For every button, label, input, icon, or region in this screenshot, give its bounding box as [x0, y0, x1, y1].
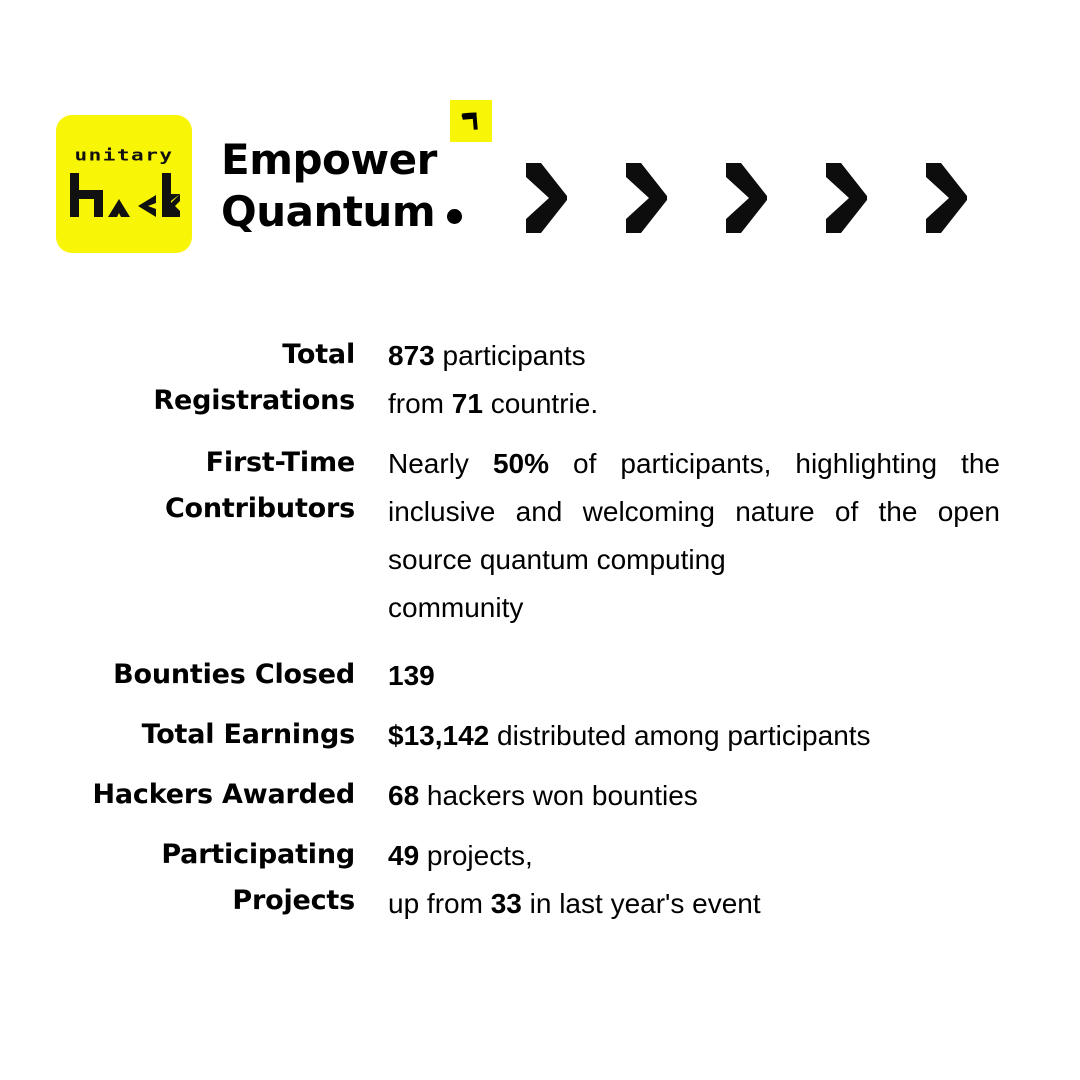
stat-number: 49	[388, 840, 419, 871]
stat-label: First-Time Contributors	[0, 440, 355, 532]
stat-label: Hackers Awarded	[0, 772, 355, 818]
logo-hack-wordmark	[68, 173, 180, 219]
stat-text: from	[388, 388, 452, 419]
stat-text: projects,	[419, 840, 533, 871]
stat-row-bounties-closed: Bounties Closed 139	[0, 652, 1080, 700]
stat-row-first-time-contributors: First-Time Contributors Nearly 50% of pa…	[0, 440, 1080, 632]
chevron-right-icon	[522, 163, 569, 233]
page-title-line-2-text: Quantum	[221, 187, 435, 236]
stat-label-line: First-Time	[0, 440, 355, 486]
arrow-up-right-icon	[450, 100, 492, 142]
stat-label-line: Registrations	[0, 378, 355, 424]
stat-text: in last year's event	[522, 888, 761, 919]
stat-number: 71	[452, 388, 483, 419]
stat-label: Bounties Closed	[0, 652, 355, 698]
stat-label: Total Registrations	[0, 332, 355, 424]
stat-value: Nearly 50% of participants, highlighting…	[388, 440, 1000, 632]
logo-unitary-text: unitary	[74, 147, 173, 163]
stat-text: up from	[388, 888, 491, 919]
stat-row-total-registrations: Total Registrations 873 participants fro…	[0, 332, 1080, 428]
stat-label-line: Total	[0, 332, 355, 378]
stat-value: $13,142 distributed among participants	[388, 712, 1000, 760]
stat-label-line: Contributors	[0, 486, 355, 532]
stat-value: 68 hackers won bounties	[388, 772, 1000, 820]
stat-text: distributed among participants	[489, 720, 870, 751]
unitary-hack-logo[interactable]: unitary	[56, 115, 192, 253]
stat-label-line: Projects	[0, 878, 355, 924]
stat-number: $13,142	[388, 720, 489, 751]
stat-label-line: Participating	[0, 832, 355, 878]
stat-text: hackers won bounties	[419, 780, 698, 811]
stat-number: 68	[388, 780, 419, 811]
stat-value-line: up from 33 in last year's event	[388, 880, 1000, 928]
stat-value: 139	[388, 652, 1000, 700]
stat-row-total-earnings: Total Earnings $13,142 distributed among…	[0, 712, 1080, 760]
stat-label: Total Earnings	[0, 712, 355, 758]
chevron-right-icon	[622, 163, 669, 233]
stat-text: Nearly	[388, 448, 493, 479]
stat-label: Participating Projects	[0, 832, 355, 924]
chevron-right-icon	[722, 163, 769, 233]
stat-text: community	[388, 584, 1000, 632]
stat-number: 50%	[493, 448, 549, 479]
header: unitary Empower Quantum	[0, 0, 1080, 300]
stat-number: 33	[491, 888, 522, 919]
stat-number: 873	[388, 340, 435, 371]
page-title-line-1: Empower	[221, 134, 481, 186]
stat-value: 873 participants from 71 countrie.	[388, 332, 1000, 428]
page-title: Empower Quantum	[221, 134, 481, 238]
stat-row-participating-projects: Participating Projects 49 projects, up f…	[0, 832, 1080, 928]
stat-text: countrie.	[483, 388, 598, 419]
stat-text: participants	[435, 340, 586, 371]
chevron-right-icon	[822, 163, 869, 233]
stat-number: 139	[388, 660, 435, 691]
stat-value: 49 projects, up from 33 in last year's e…	[388, 832, 1000, 928]
stat-row-hackers-awarded: Hackers Awarded 68 hackers won bounties	[0, 772, 1080, 820]
page-title-line-2: Quantum	[221, 186, 481, 238]
stat-value-line: 873 participants	[388, 332, 1000, 380]
title-dot	[447, 209, 462, 224]
stat-value-line: from 71 countrie.	[388, 380, 1000, 428]
stats-table: Total Registrations 873 participants fro…	[0, 332, 1080, 940]
stat-value-line: 49 projects,	[388, 832, 1000, 880]
chevron-right-icon	[922, 163, 969, 233]
chevron-row	[522, 163, 969, 233]
